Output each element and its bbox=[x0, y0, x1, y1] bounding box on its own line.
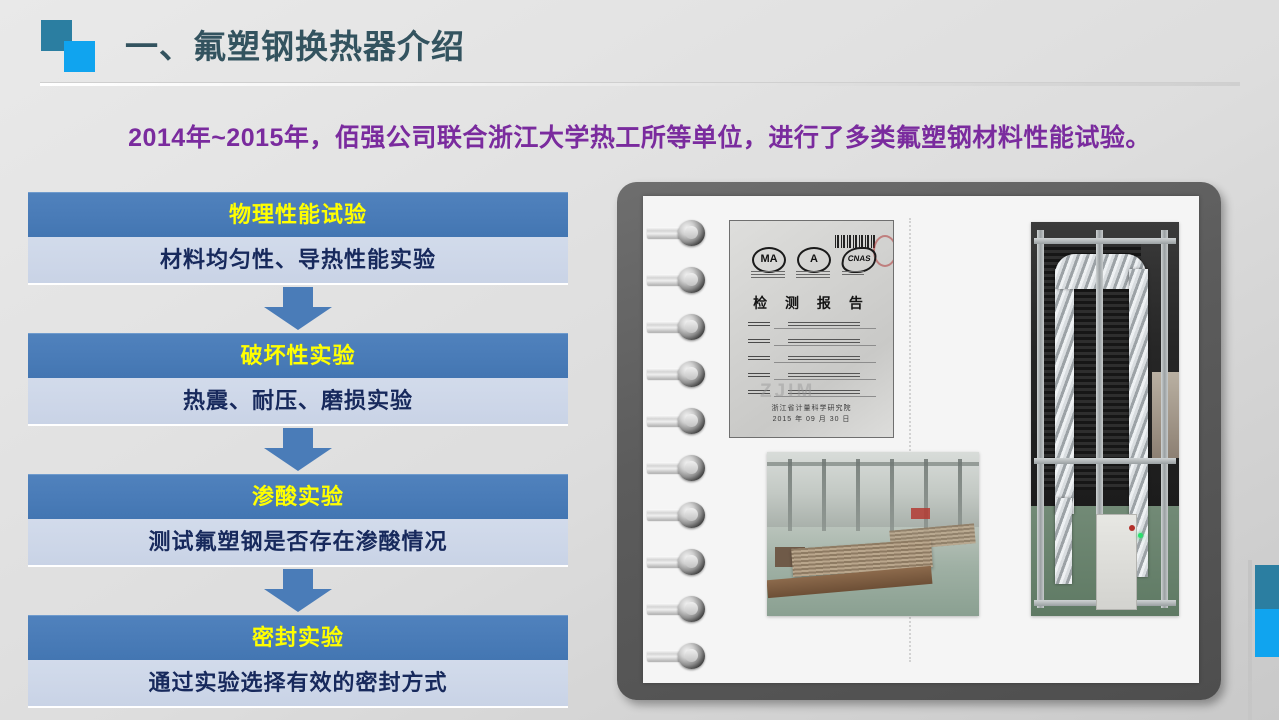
report-field-row bbox=[748, 321, 876, 330]
cal-caption bbox=[796, 271, 830, 280]
arrow-down-icon bbox=[261, 287, 335, 331]
corner-edge-shadow bbox=[1248, 560, 1252, 720]
workshop-column bbox=[890, 459, 894, 531]
rig-status-led-icon bbox=[1138, 533, 1143, 538]
rig-frame-rail bbox=[1034, 238, 1176, 244]
certification-logos: MA A CNAS bbox=[752, 247, 877, 281]
flow-step-desc: 测试氟塑钢是否存在渗酸情况 bbox=[28, 519, 568, 567]
flow-step-desc: 材料均匀性、导热性能实验 bbox=[28, 237, 568, 285]
notebook-page: MA A CNAS 检 测 报 告 ZJIM 浙江省计量科学研究院 2015 年… bbox=[643, 196, 1199, 683]
flow-step-desc: 热震、耐压、磨损实验 bbox=[28, 378, 568, 426]
cma-caption bbox=[751, 271, 785, 280]
subtitle-text: 2014年~2015年，佰强公司联合浙江大学热工所等单位，进行了多类氟塑钢材料性… bbox=[0, 118, 1279, 154]
workshop-column bbox=[788, 459, 792, 531]
cnas-caption bbox=[842, 271, 864, 277]
workshop-forklift bbox=[911, 508, 930, 519]
workshop-beam bbox=[767, 462, 979, 466]
flow-step: 物理性能试验 材料均匀性、导热性能实验 bbox=[28, 192, 568, 285]
flow-arrow-1 bbox=[28, 285, 568, 333]
report-field-row bbox=[748, 355, 876, 364]
report-title: 检 测 报 告 bbox=[730, 293, 893, 313]
report-field-row bbox=[748, 372, 876, 381]
binding-ring-icon bbox=[647, 596, 711, 622]
flow-step: 密封实验 通过实验选择有效的密封方式 bbox=[28, 615, 568, 708]
flow-step-desc: 通过实验选择有效的密封方式 bbox=[28, 660, 568, 708]
cal-logo-icon: A bbox=[797, 247, 831, 273]
photo-workshop[interactable] bbox=[767, 452, 979, 616]
flow-step-title: 密封实验 bbox=[28, 615, 568, 660]
arrow-down-icon bbox=[261, 428, 335, 472]
spiral-binding bbox=[647, 220, 713, 690]
notebook-frame: MA A CNAS 检 测 报 告 ZJIM 浙江省计量科学研究院 2015 年… bbox=[617, 182, 1221, 700]
insulated-duct-lower-left bbox=[1055, 498, 1073, 585]
flow-step: 破坏性实验 热震、耐压、磨损实验 bbox=[28, 333, 568, 426]
rig-frame-post bbox=[1161, 230, 1168, 608]
binding-ring-icon bbox=[647, 502, 711, 528]
binding-ring-icon bbox=[647, 455, 711, 481]
process-flow-list: 物理性能试验 材料均匀性、导热性能实验 破坏性实验 热震、耐压、磨损实验 渗酸实… bbox=[28, 192, 568, 708]
binding-ring-icon bbox=[647, 267, 711, 293]
corner-square-teal bbox=[1255, 565, 1279, 609]
binding-ring-icon bbox=[647, 643, 711, 669]
workshop-column bbox=[924, 459, 928, 531]
binding-ring-icon bbox=[647, 549, 711, 575]
arrow-down-icon bbox=[261, 569, 335, 613]
page-title: 一、氟塑钢换热器介绍 bbox=[125, 20, 465, 68]
rig-frame-post bbox=[1037, 230, 1044, 608]
workshop-column bbox=[822, 459, 826, 531]
flow-arrow-2 bbox=[28, 426, 568, 474]
photo-test-rig[interactable] bbox=[1031, 222, 1179, 616]
cnas-logo-icon: CNAS bbox=[840, 247, 878, 273]
report-issuer-name: 浙江省计量科学研究院 bbox=[730, 403, 893, 414]
cma-logo-icon: MA bbox=[752, 247, 786, 273]
flow-step: 渗酸实验 测试氟塑钢是否存在渗酸情况 bbox=[28, 474, 568, 567]
report-watermark: ZJIM bbox=[760, 381, 815, 403]
binding-ring-icon bbox=[647, 408, 711, 434]
workshop-column bbox=[958, 459, 962, 531]
test-report-document[interactable]: MA A CNAS 检 测 报 告 ZJIM 浙江省计量科学研究院 2015 年… bbox=[729, 220, 894, 438]
insulated-duct-left bbox=[1055, 269, 1074, 513]
binding-ring-icon bbox=[647, 220, 711, 246]
title-divider-rule bbox=[40, 82, 1240, 86]
binding-ring-icon bbox=[647, 361, 711, 387]
flow-step-title: 渗酸实验 bbox=[28, 474, 568, 519]
binding-ring-icon bbox=[647, 314, 711, 340]
report-field-row bbox=[748, 338, 876, 347]
report-issuer: 浙江省计量科学研究院 2015 年 09 月 30 日 bbox=[730, 403, 893, 425]
workshop-column bbox=[856, 459, 860, 531]
report-issuer-date: 2015 年 09 月 30 日 bbox=[730, 414, 893, 425]
rig-frame-rail bbox=[1034, 458, 1176, 464]
notebook-content: MA A CNAS 检 测 报 告 ZJIM 浙江省计量科学研究院 2015 年… bbox=[719, 214, 1187, 666]
flow-step-title: 破坏性实验 bbox=[28, 333, 568, 378]
flow-step-title: 物理性能试验 bbox=[28, 192, 568, 237]
flow-arrow-3 bbox=[28, 567, 568, 615]
corner-square-cyan bbox=[1255, 609, 1279, 657]
decor-square-cyan bbox=[64, 41, 95, 72]
